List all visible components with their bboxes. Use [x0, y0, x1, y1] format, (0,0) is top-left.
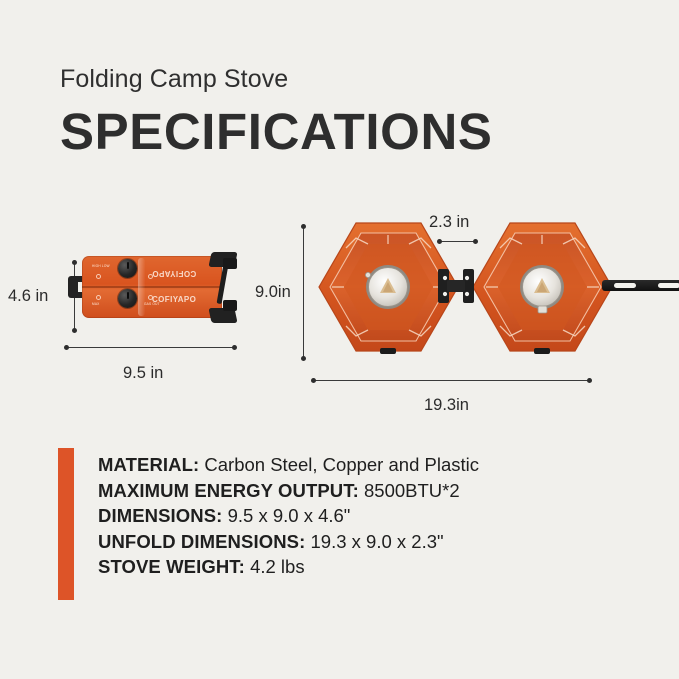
burner-right-foot: [534, 348, 550, 354]
specification-infographic: Folding Camp Stove SPECIFICATIONS 4.6 in…: [0, 0, 679, 679]
unfolded-width-dimension-line: [314, 380, 590, 381]
brand-label-bottom: COFIYAPO: [152, 295, 196, 304]
center-hinge: [436, 267, 476, 305]
unfolded-height-dot-bottom: [301, 356, 306, 361]
folded-width-dot-left: [64, 345, 69, 350]
spec-value: 9.5 x 9.0 x 4.6": [228, 505, 351, 526]
folded-height-label: 4.6 in: [8, 287, 48, 306]
folded-width-dot-right: [232, 345, 237, 350]
handle-slot-2: [658, 283, 679, 288]
folded-buckle-bottom: [223, 300, 237, 311]
folded-stove-highlight: [138, 258, 145, 316]
spec-row: MATERIAL: Carbon Steel, Copper and Plast…: [98, 452, 479, 478]
spec-row: DIMENSIONS: 9.5 x 9.0 x 4.6": [98, 503, 479, 529]
spec-key: DIMENSIONS:: [98, 505, 222, 526]
folded-width-dimension-line: [66, 347, 236, 348]
folded-buckle-top: [223, 258, 237, 269]
product-diagram: 4.6 in HIGH LOW MAX GAS OUT COFIYAPO COF…: [0, 200, 679, 415]
folded-port-a: [96, 274, 101, 279]
folded-port-b: [96, 295, 101, 300]
spec-value: 8500BTU*2: [364, 480, 460, 501]
spec-key: MATERIAL:: [98, 454, 199, 475]
header: Folding Camp Stove SPECIFICATIONS: [60, 66, 493, 157]
spec-value: Carbon Steel, Copper and Plastic: [204, 454, 479, 475]
unfolded-width-dot-left: [311, 378, 316, 383]
unfolded-width-label: 19.3in: [424, 396, 469, 415]
carry-handle: [602, 280, 679, 291]
spec-value: 4.2 lbs: [250, 556, 305, 577]
page-title: SPECIFICATIONS: [60, 106, 493, 157]
unfolded-width-dot-right: [587, 378, 592, 383]
unfolded-stove-image: [310, 212, 679, 372]
unfolded-height-label: 9.0in: [255, 283, 291, 302]
control-knob-bottom[interactable]: [118, 289, 137, 308]
spec-row: STOVE WEIGHT: 4.2 lbs: [98, 554, 479, 580]
burner-left-foot: [380, 348, 396, 354]
unfolded-height-dimension-line: [303, 226, 304, 358]
folded-width-label: 9.5 in: [123, 364, 163, 383]
spec-value: 19.3 x 9.0 x 2.3": [311, 531, 444, 552]
burner-right: [470, 220, 615, 355]
specification-list: MATERIAL: Carbon Steel, Copper and Plast…: [98, 448, 479, 600]
control-knob-top[interactable]: [118, 259, 137, 278]
accent-bar: [58, 448, 74, 600]
product-subtitle: Folding Camp Stove: [60, 66, 493, 94]
specifications-block: MATERIAL: Carbon Steel, Copper and Plast…: [58, 448, 479, 600]
brand-label-top: COFIYAPO: [152, 269, 196, 278]
spec-row: MAXIMUM ENERGY OUTPUT: 8500BTU*2: [98, 478, 479, 504]
folded-stove-seam: [82, 286, 222, 288]
folded-height-dot-bottom: [72, 328, 77, 333]
unfolded-height-dot-top: [301, 224, 306, 229]
folded-marking-b: MAX: [92, 302, 100, 306]
spec-row: UNFOLD DIMENSIONS: 19.3 x 9.0 x 2.3": [98, 529, 479, 555]
spec-key: STOVE WEIGHT:: [98, 556, 245, 577]
folded-marking-a: HIGH LOW: [92, 264, 110, 268]
folded-stove-image: HIGH LOW MAX GAS OUT COFIYAPO COFIYAPO: [60, 250, 240, 325]
handle-slot-1: [614, 283, 636, 288]
spec-key: UNFOLD DIMENSIONS:: [98, 531, 305, 552]
spec-key: MAXIMUM ENERGY OUTPUT:: [98, 480, 359, 501]
